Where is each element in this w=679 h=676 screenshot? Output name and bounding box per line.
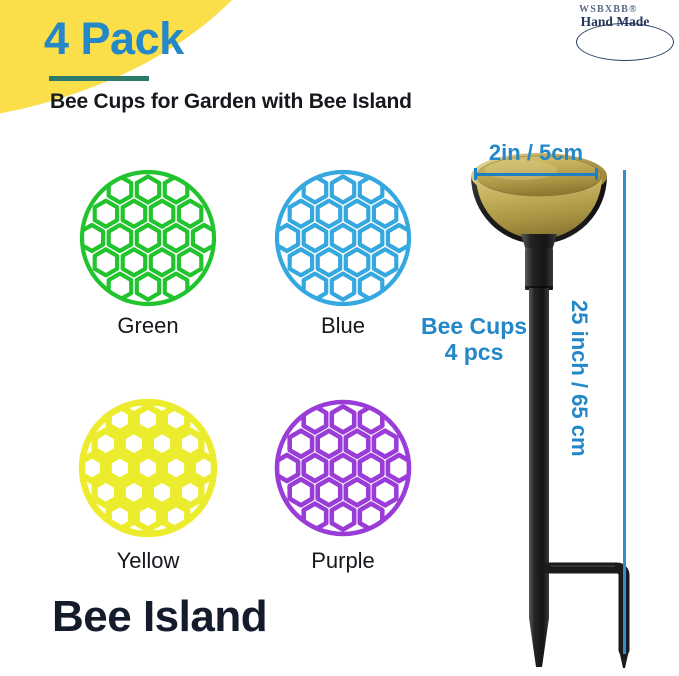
bee-cup-disc-green[interactable] (78, 168, 218, 308)
disc-label-purple: Purple (263, 548, 423, 574)
product-infographic: 4 Pack Bee Cups for Garden with Bee Isla… (0, 0, 679, 671)
disc-label-yellow: Yellow (68, 548, 228, 574)
disc-label-green: Green (68, 313, 228, 339)
bee-cup-disc-blue[interactable] (273, 168, 413, 308)
title-divider (49, 76, 149, 81)
page-title: 4 Pack (44, 16, 184, 61)
handmade-badge-label: Hand Made (567, 4, 663, 40)
brand-logo: WSBXBB® Hand Made (567, 4, 675, 62)
width-bar-line (474, 173, 598, 176)
bee-cup-disc-yellow[interactable] (78, 398, 218, 538)
height-measurement-line (623, 170, 626, 654)
disc-label-blue: Blue (263, 313, 423, 339)
brand-wordmark: Bee Island (52, 592, 267, 642)
bee-cup-disc-purple[interactable] (273, 398, 413, 538)
page-subtitle: Bee Cups for Garden with Bee Island (50, 90, 412, 114)
width-measurement-bar (474, 168, 598, 180)
width-bar-cap-right (595, 168, 598, 180)
width-measurement-label: 2in / 5cm (466, 140, 606, 166)
height-measurement-label: 25 inch / 65 cm (566, 300, 592, 520)
